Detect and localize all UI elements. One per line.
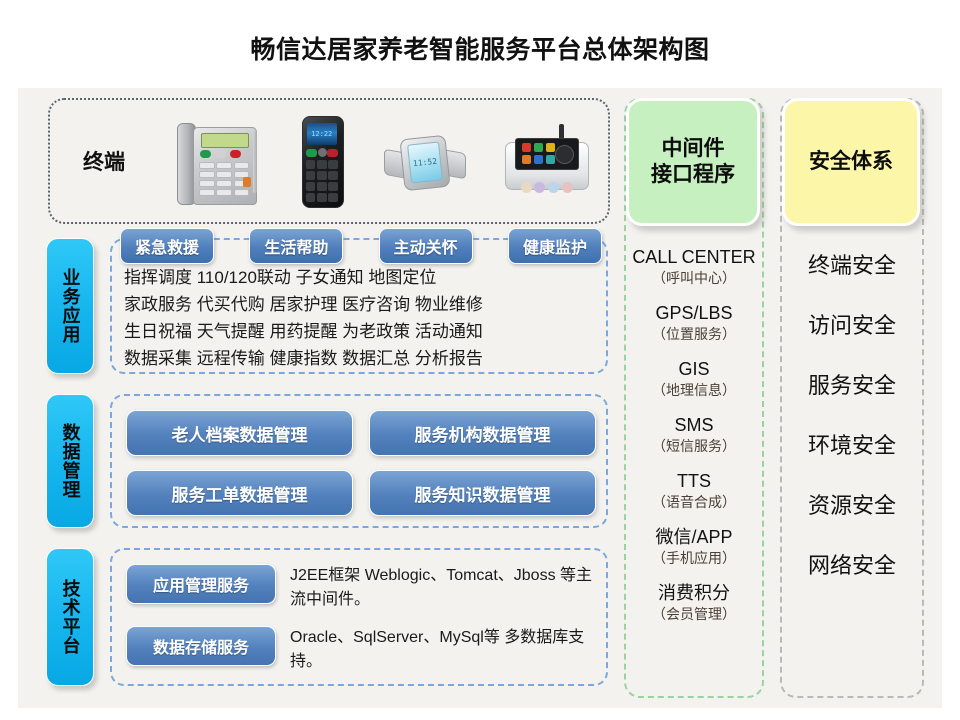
pill-emergency-rescue[interactable]: 紧急救援	[120, 228, 214, 264]
sidebar-tab-data-management-label: 数据管理	[61, 423, 80, 499]
terminal-devices: 12:22 11:52	[158, 100, 608, 222]
middleware-item-tts: TTS （语音合成）	[624, 470, 764, 512]
mobile-phone-screen-time: 12:22	[307, 123, 337, 145]
security-header-label: 安全体系	[809, 149, 893, 175]
middleware-item-consumption-points: 消费积分 （会员管理）	[624, 582, 764, 624]
middleware-item-main: TTS	[624, 470, 764, 492]
sidebar-tab-tech-platform-label: 技术平台	[61, 579, 80, 655]
data-btn-service-knowledge[interactable]: 服务知识数据管理	[369, 470, 596, 516]
sidebar-tab-tech-platform[interactable]: 技术平台	[46, 548, 94, 686]
middleware-header-box: 中间件 接口程序	[626, 98, 760, 226]
tech-content-box: 应用管理服务 J2EE框架 Weblogic、Tomcat、Jboss 等主流中…	[110, 548, 608, 686]
data-layer: 数据管理 老人档案数据管理 服务机构数据管理 服务工单数据管理 服务知识数据管理	[32, 392, 612, 540]
security-item-network: 网络安全	[780, 548, 924, 580]
middleware-item-gis: GIS （地理信息）	[624, 358, 764, 400]
middleware-item-sms: SMS （短信服务）	[624, 414, 764, 456]
middleware-item-gps-lbs: GPS/LBS （位置服务）	[624, 302, 764, 344]
security-column: 安全体系 终端安全 访问安全 服务安全 环境安全 资源安全 网络安全	[776, 98, 928, 698]
data-btn-work-order[interactable]: 服务工单数据管理	[126, 470, 353, 516]
tech-row-app-management: 应用管理服务 J2EE框架 Weblogic、Tomcat、Jboss 等主流中…	[126, 564, 598, 612]
tech-row-list: 应用管理服务 J2EE框架 Weblogic、Tomcat、Jboss 等主流中…	[126, 564, 598, 688]
tech-layer: 技术平台 应用管理服务 J2EE框架 Weblogic、Tomcat、Jboss…	[32, 546, 612, 698]
middleware-item-sub: （位置服务）	[624, 324, 764, 344]
security-item-resource: 资源安全	[780, 488, 924, 520]
middleware-item-main: 消费积分	[624, 582, 764, 604]
business-layer: 业务应用 紧急救援 生活帮助 主动关怀 健康监护 指挥调度 110/120联动 …	[32, 236, 612, 386]
middleware-item-main: GIS	[624, 358, 764, 380]
tech-desc-app-management: J2EE框架 Weblogic、Tomcat、Jboss 等主流中间件。	[276, 564, 598, 612]
security-item-environment: 环境安全	[780, 428, 924, 460]
sidebar-tab-business[interactable]: 业务应用	[46, 238, 94, 374]
data-button-grid: 老人档案数据管理 服务机构数据管理 服务工单数据管理 服务知识数据管理	[126, 410, 596, 516]
middleware-header-line2: 接口程序	[651, 162, 735, 188]
left-column: 终端	[32, 98, 612, 698]
security-item-access: 访问安全	[780, 308, 924, 340]
middleware-item-sub: （手机应用）	[624, 548, 764, 568]
security-item-service: 服务安全	[780, 368, 924, 400]
business-line-3: 生日祝福 天气提醒 用药提醒 为老政策 活动通知	[124, 318, 602, 345]
middleware-item-sub: （语音合成）	[624, 492, 764, 512]
page-title: 畅信达居家养老智能服务平台总体架构图	[0, 30, 960, 66]
pill-health-monitoring[interactable]: 健康监护	[508, 228, 602, 264]
tech-desc-data-storage: Oracle、SqlServer、MySql等 多数据库支持。	[276, 626, 598, 674]
tech-tag-app-management[interactable]: 应用管理服务	[126, 564, 276, 604]
business-content-box: 紧急救援 生活帮助 主动关怀 健康监护 指挥调度 110/120联动 子女通知 …	[110, 238, 608, 374]
middleware-item-main: SMS	[624, 414, 764, 436]
middleware-item-sub: （会员管理）	[624, 604, 764, 624]
business-line-4: 数据采集 远程传输 健康指数 数据汇总 分析报告	[124, 345, 602, 372]
middleware-item-main: CALL CENTER	[624, 246, 764, 268]
business-service-lines: 指挥调度 110/120联动 子女通知 地图定位 家政服务 代买代购 居家护理 …	[124, 264, 602, 372]
sidebar-tab-business-label: 业务应用	[61, 268, 80, 344]
tech-tag-data-storage[interactable]: 数据存储服务	[126, 626, 276, 666]
sidebar-tab-data-management[interactable]: 数据管理	[46, 394, 94, 528]
middleware-column: 中间件 接口程序 CALL CENTER （呼叫中心） GPS/LBS （位置服…	[620, 98, 768, 698]
middleware-item-call-center: CALL CENTER （呼叫中心）	[624, 246, 764, 288]
elderly-mobile-phone-icon: 12:22	[296, 114, 348, 208]
middleware-header-line1: 中间件	[651, 136, 735, 162]
tech-row-data-storage: 数据存储服务 Oracle、SqlServer、MySql等 多数据库支持。	[126, 626, 598, 674]
terminal-section: 终端	[48, 98, 610, 224]
security-item-list: 终端安全 访问安全 服务安全 环境安全 资源安全 网络安全	[780, 248, 924, 608]
watch-screen-time: 11:52	[407, 141, 443, 183]
middleware-item-sub: （短信服务）	[624, 436, 764, 456]
middleware-item-wechat-app: 微信/APP （手机应用）	[624, 526, 764, 568]
middleware-item-sub: （地理信息）	[624, 380, 764, 400]
business-line-1: 指挥调度 110/120联动 子女通知 地图定位	[124, 264, 602, 291]
security-item-terminal: 终端安全	[780, 248, 924, 280]
pill-active-care[interactable]: 主动关怀	[379, 228, 473, 264]
middleware-item-main: 微信/APP	[624, 526, 764, 548]
middleware-item-sub: （呼叫中心）	[624, 268, 764, 288]
middleware-item-main: GPS/LBS	[624, 302, 764, 324]
health-monitor-icon	[501, 124, 591, 198]
security-header-box: 安全体系	[782, 98, 920, 226]
business-line-2: 家政服务 代买代购 居家护理 医疗咨询 物业维修	[124, 291, 602, 318]
smart-watch-icon: 11:52	[382, 121, 466, 201]
landline-phone-icon	[175, 117, 261, 205]
middleware-item-list: CALL CENTER （呼叫中心） GPS/LBS （位置服务） GIS （地…	[624, 246, 764, 638]
pill-life-assistance[interactable]: 生活帮助	[249, 228, 343, 264]
architecture-panel: 终端	[18, 88, 942, 708]
terminal-label: 终端	[50, 146, 158, 176]
data-btn-elder-archive[interactable]: 老人档案数据管理	[126, 410, 353, 456]
data-content-box: 老人档案数据管理 服务机构数据管理 服务工单数据管理 服务知识数据管理	[110, 394, 608, 528]
business-pill-row: 紧急救援 生活帮助 主动关怀 健康监护	[120, 228, 602, 264]
data-btn-service-org[interactable]: 服务机构数据管理	[369, 410, 596, 456]
